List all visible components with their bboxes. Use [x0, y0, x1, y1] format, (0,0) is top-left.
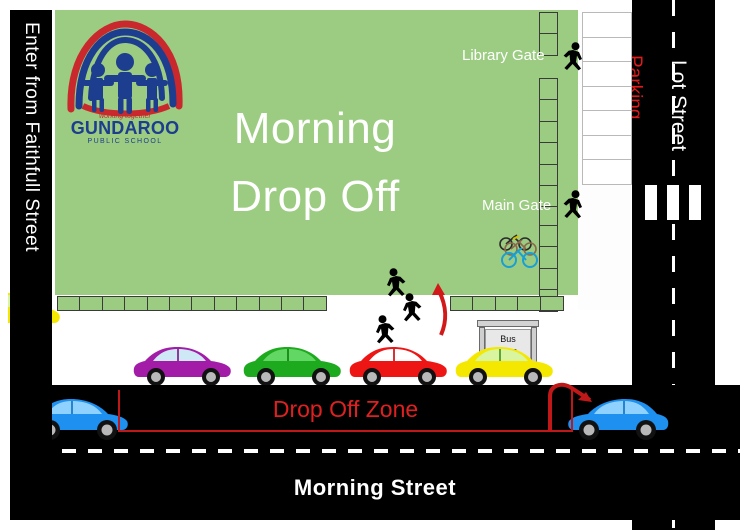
parking-bay: [583, 160, 631, 185]
car-green: [241, 341, 345, 389]
fence-paling: [539, 12, 558, 35]
drop-off-road-dashes: [10, 449, 740, 453]
fence-paling: [539, 142, 558, 165]
parking-bay: [583, 111, 631, 136]
arrow-walking-route: [425, 275, 455, 342]
bus-stop-roof: [477, 320, 539, 327]
fence-paling: [539, 121, 558, 144]
main-gate-label: Main Gate: [482, 197, 551, 214]
parking-bay: [583, 87, 631, 112]
fence-paling: [517, 296, 541, 311]
library-gate-label: Library Gate: [462, 47, 545, 64]
pedestrian-field-2: [399, 293, 425, 325]
fence-paling: [539, 164, 558, 187]
car-yellow: [453, 341, 557, 389]
fence-paling: [214, 296, 238, 311]
fence-paling: [281, 296, 305, 311]
fence-paling: [495, 296, 519, 311]
pedestrian-library-gate: [560, 42, 586, 74]
fence-paling: [79, 296, 103, 311]
svg-text:PUBLIC SCHOOL: PUBLIC SCHOOL: [88, 138, 163, 144]
car-purple: [131, 341, 235, 389]
fence-horizontal-left: [57, 296, 326, 311]
fence-paling: [472, 296, 496, 311]
parking-bay: [583, 38, 631, 63]
fence-paling: [102, 296, 126, 311]
arrow-to-blue-car: [546, 378, 616, 438]
svg-text:GUNDAROO: GUNDAROO: [71, 118, 180, 138]
parking-bay: [583, 13, 631, 38]
lot-street-label: Lot Street: [666, 60, 690, 151]
morning-drop-off-map: Parking Lot Street: [0, 0, 750, 530]
fence-paling: [147, 296, 171, 311]
parking-bay-grid: [582, 12, 632, 185]
fence-paling: [124, 296, 148, 311]
morning-street-label: Morning Street: [10, 455, 740, 520]
parking-bay: [583, 136, 631, 161]
fence-paling: [540, 296, 564, 311]
parking-bay: [583, 62, 631, 87]
page-title-line1: Morning: [195, 95, 435, 163]
fence-paling: [539, 78, 558, 101]
school-logo: working together GUNDAROO PUBLIC SCHOOL: [63, 14, 188, 144]
pedestrian-main-gate: [560, 190, 586, 222]
bike-rack: [497, 230, 545, 277]
fence-paling: [236, 296, 260, 311]
fence-horizontal-right: [450, 296, 562, 311]
fence-paling: [169, 296, 193, 311]
pedestrian-crossing-stripes: [645, 185, 707, 220]
page-title: Morning Drop Off: [195, 95, 435, 231]
car-red: [347, 341, 451, 389]
page-title-line2: Drop Off: [195, 163, 435, 231]
fence-paling: [259, 296, 283, 311]
drop-off-zone-label: Drop Off Zone: [118, 396, 573, 423]
fence-paling: [303, 296, 327, 311]
fence-paling: [539, 99, 558, 122]
fence-paling: [191, 296, 215, 311]
faithfull-street-bar: [10, 10, 52, 465]
